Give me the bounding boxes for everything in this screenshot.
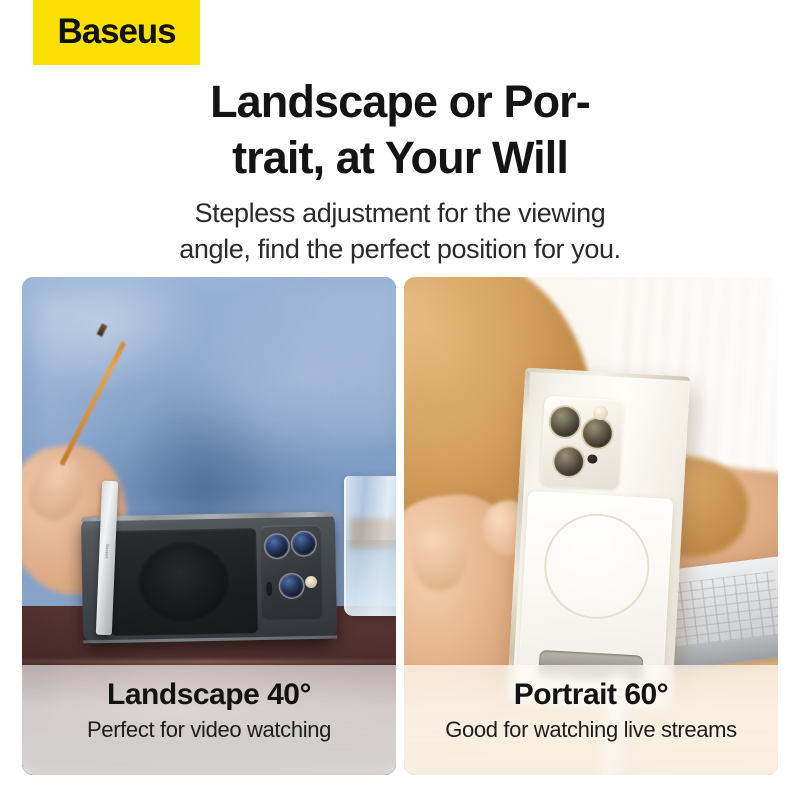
subtitle-line-2: angle, find the perfect position for you… xyxy=(0,232,800,268)
caption-subtitle: Perfect for video watching xyxy=(22,717,396,743)
camera-flash-icon xyxy=(593,405,608,420)
camera-lens-icon xyxy=(292,532,316,556)
page-subtitle: Stepless adjustment for the viewing angl… xyxy=(0,196,800,268)
headline-line-2: trait, at Your Will xyxy=(0,130,800,186)
brand-logo-badge: Baseus xyxy=(33,0,200,65)
caption-portrait: Portrait 60° Good for watching live stre… xyxy=(404,665,778,775)
product-photo-panels: Baseus Landscape 40° Perfect for video w… xyxy=(22,277,778,775)
camera-module xyxy=(260,525,323,620)
magsafe-stand-pad-black xyxy=(109,528,258,635)
caption-landscape: Landscape 40° Perfect for video watching xyxy=(22,665,396,775)
glass-water-level xyxy=(346,540,396,615)
caption-title: Portrait 60° xyxy=(404,678,778,712)
page-headline: Landscape or Por- trait, at Your Will xyxy=(0,74,800,186)
brand-logo-text: Baseus xyxy=(58,14,176,52)
magsafe-ring-icon xyxy=(137,540,230,623)
camera-lens-icon xyxy=(582,417,613,448)
panel-landscape: Baseus Landscape 40° Perfect for video w… xyxy=(22,277,396,775)
desk-edge-highlight xyxy=(22,660,396,663)
water-glass xyxy=(344,476,396,615)
glass-refraction xyxy=(350,518,396,549)
subtitle-line-1: Stepless adjustment for the viewing xyxy=(0,196,800,232)
knuckle xyxy=(411,516,467,591)
phone-portrait-white xyxy=(507,367,690,709)
phone-landscape-graphite xyxy=(81,512,338,644)
camera-microphone-icon xyxy=(266,582,272,595)
magsafe-ring-icon xyxy=(542,511,652,621)
kickstand-brand-label: Baseus xyxy=(104,543,110,559)
caption-title: Landscape 40° xyxy=(22,678,396,712)
camera-lens-icon xyxy=(550,406,581,437)
camera-lens-icon xyxy=(554,446,585,477)
caption-subtitle: Good for watching live streams xyxy=(404,717,778,743)
camera-microphone-icon xyxy=(588,453,599,463)
camera-flash-icon xyxy=(305,576,317,588)
panel-portrait: Baseus Portrait 60° Good for watching li… xyxy=(404,277,778,775)
camera-module xyxy=(540,395,624,489)
headline-line-1: Landscape or Por- xyxy=(0,74,800,130)
camera-lens-icon xyxy=(279,574,303,598)
camera-lens-icon xyxy=(265,535,289,559)
sleeve-fold-highlight xyxy=(404,277,465,404)
